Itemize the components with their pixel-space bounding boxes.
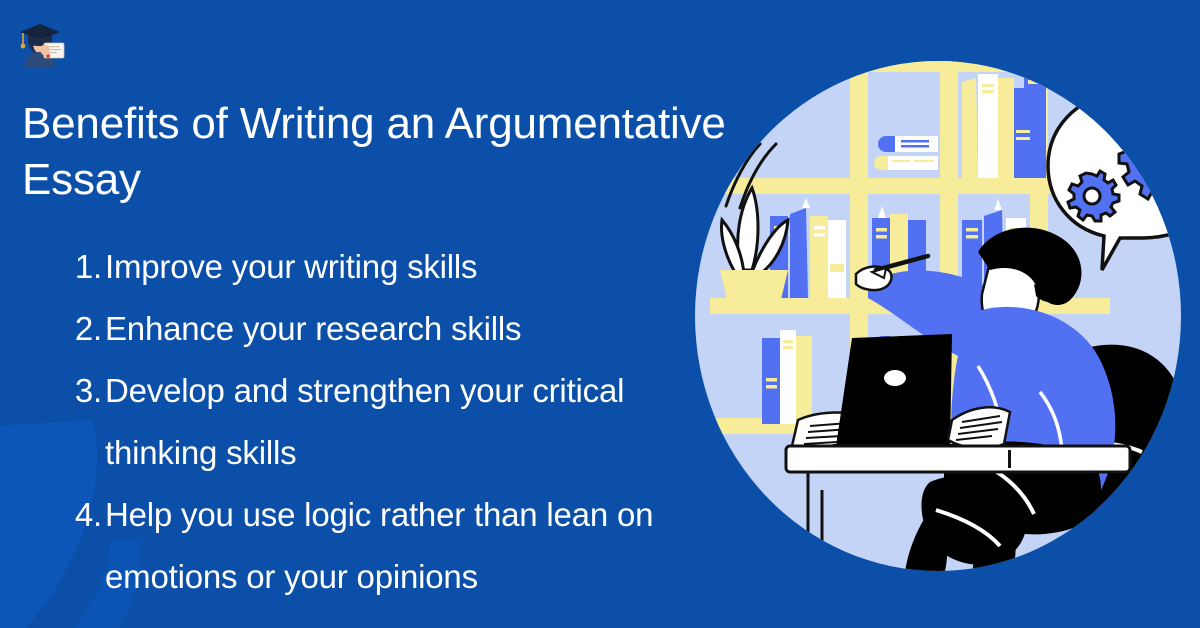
page-title: Benefits of Writing an Argumentative Ess… xyxy=(22,96,802,208)
graduate-emoji-icon xyxy=(14,16,70,68)
list-item-number: 3. xyxy=(60,360,102,422)
list-item: 2. Enhance your research skills xyxy=(60,298,740,360)
list-item-label: Enhance your research skills xyxy=(105,298,740,360)
list-item: 1. Improve your writing skills xyxy=(60,236,740,298)
list-item-label: Improve your writing skills xyxy=(105,236,740,298)
motion-lines-right xyxy=(1146,468,1196,532)
list-item: 4. Help you use logic rather than lean o… xyxy=(60,484,740,608)
list-item-number: 4. xyxy=(60,484,102,546)
books-lower-left xyxy=(762,330,812,424)
list-item: 3. Develop and strengthen your critical … xyxy=(60,360,740,484)
list-item-label: Develop and strengthen your critical thi… xyxy=(105,360,740,484)
list-item-number: 1. xyxy=(60,236,102,298)
benefits-list: 1. Improve your writing skills 2. Enhanc… xyxy=(60,236,740,608)
list-item-number: 2. xyxy=(60,298,102,360)
list-item-label: Help you use logic rather than lean on e… xyxy=(105,484,740,608)
poster-canvas: Benefits of Writing an Argumentative Ess… xyxy=(0,0,1200,628)
student-studying-illustration xyxy=(690,48,1200,628)
